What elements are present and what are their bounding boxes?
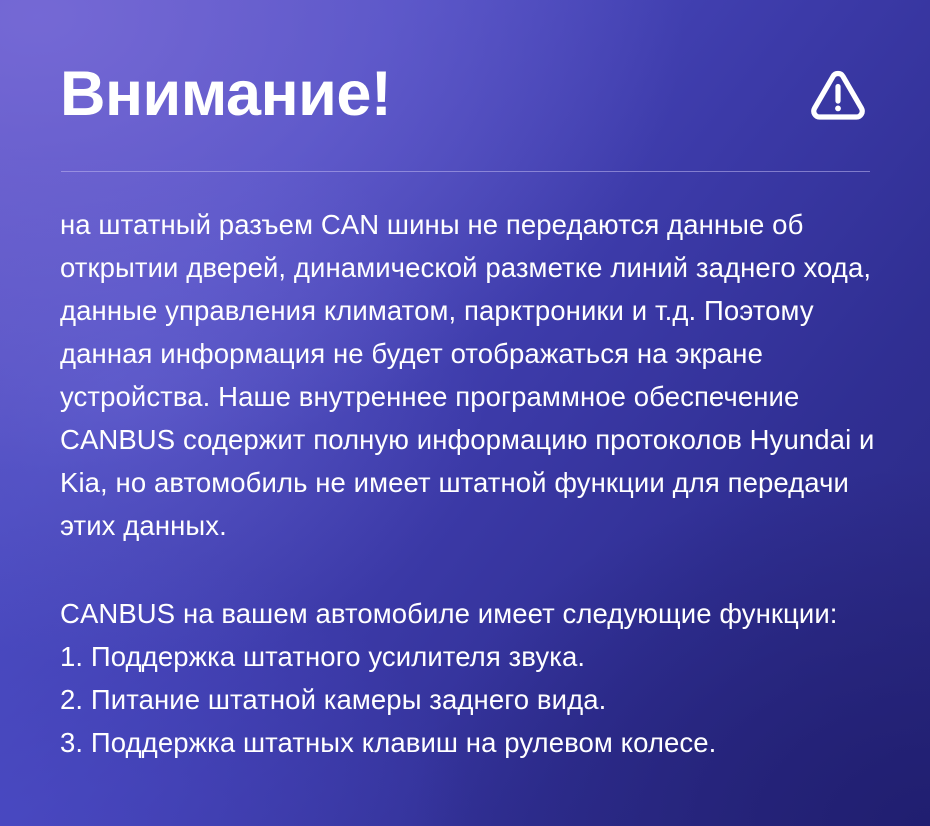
warning-poster: Внимание! на штатный разъем CAN шины не … xyxy=(0,0,930,826)
poster-content: Внимание! на штатный разъем CAN шины не … xyxy=(0,0,930,826)
list-item: 3. Поддержка штатных клавиш на рулевом к… xyxy=(60,721,884,764)
warning-triangle-icon xyxy=(806,62,872,126)
poster-body: на штатный разъем CAN шины не передаются… xyxy=(60,203,884,764)
list-item: 1. Поддержка штатного усилителя звука. xyxy=(60,635,884,678)
page-title: Внимание! xyxy=(60,63,391,126)
functions-list: 1. Поддержка штатного усилителя звука. 2… xyxy=(60,635,884,764)
functions-intro-paragraph: CANBUS на вашем автомобиле имеет следующ… xyxy=(60,592,884,635)
description-paragraph: на штатный разъем CAN шины не передаются… xyxy=(60,203,884,547)
list-item: 2. Питание штатной камеры заднего вида. xyxy=(60,678,884,721)
header-divider xyxy=(61,171,870,172)
poster-header: Внимание! xyxy=(60,46,872,142)
